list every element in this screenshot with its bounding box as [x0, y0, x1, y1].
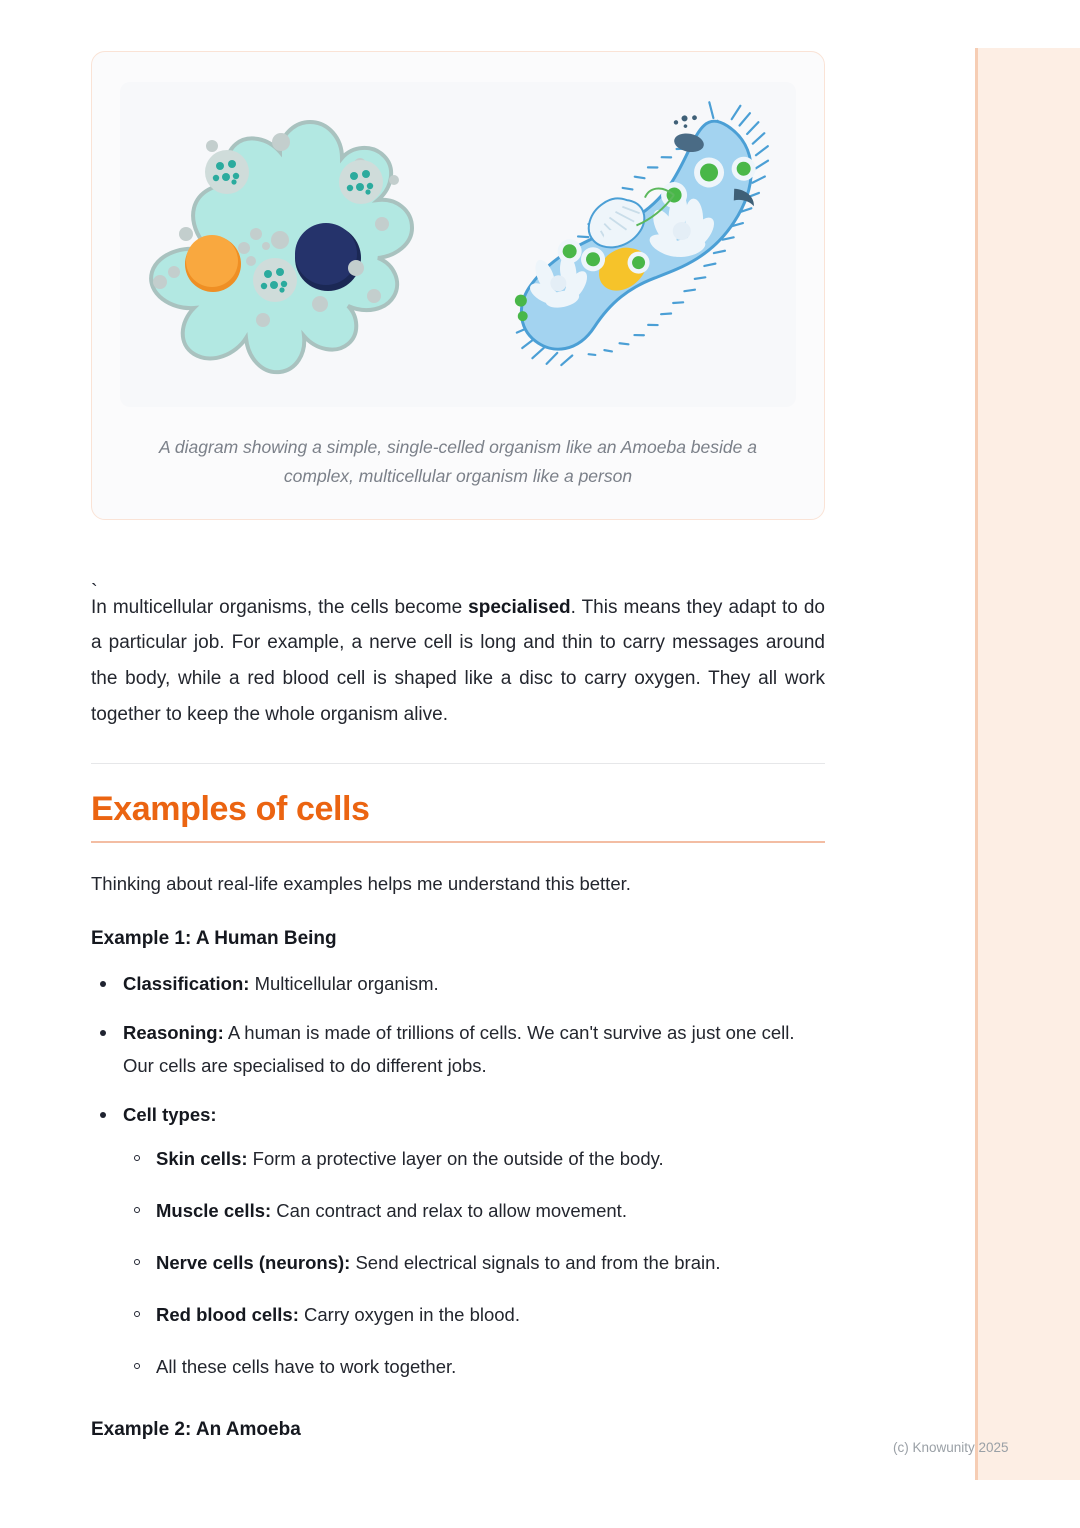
list-item: Classification: Multicellular organism. — [91, 968, 825, 1001]
document-content-column: A diagram showing a simple, single-celle… — [91, 0, 825, 1441]
paragraph-bold-term: specialised — [468, 597, 570, 618]
page-title: Examples of cells — [91, 790, 825, 841]
list-item-term: Classification: — [123, 973, 249, 994]
list-item-text: A human is made of trillions of cells. W… — [123, 1022, 795, 1076]
cells-illustration-svg — [120, 82, 796, 407]
amoeba-organelle-cluster-1 — [205, 150, 249, 194]
cell-types-sub-list: Skin cells: Form a protective layer on t… — [123, 1143, 825, 1384]
list-item-term: Reasoning: — [123, 1022, 224, 1043]
list-item-term: Nerve cells (neurons): — [156, 1252, 350, 1273]
list-item: Red blood cells: Carry oxygen in the blo… — [123, 1299, 825, 1332]
list-item-text: Multicellular organism. — [249, 973, 438, 994]
list-item: All these cells have to work together. — [123, 1351, 825, 1384]
figure-image-panel — [120, 82, 796, 407]
list-item: Cell types: Skin cells: Form a protectiv… — [91, 1099, 825, 1384]
amoeba-vacuole-highlight — [186, 235, 238, 287]
list-item-text: Carry oxygen in the blood. — [299, 1304, 520, 1325]
list-item: Skin cells: Form a protective layer on t… — [123, 1143, 825, 1176]
paramecium-illustration — [488, 82, 795, 407]
list-item-text: Send electrical signals to and from the … — [350, 1252, 720, 1273]
figure-caption: A diagram showing a simple, single-celle… — [154, 433, 762, 491]
section-lead-text: Thinking about real-life examples helps … — [91, 869, 825, 899]
list-item-text: Can contract and relax to allow movement… — [271, 1200, 627, 1221]
list-item-text: Form a protective layer on the outside o… — [248, 1148, 664, 1169]
right-band-edge-line — [975, 48, 978, 1480]
example-1-title: Example 1: A Human Being — [91, 928, 825, 950]
amoeba-organelle-cluster-2 — [339, 160, 383, 204]
right-decorative-band — [975, 48, 1080, 1480]
stray-backtick-mark: ` — [91, 582, 98, 602]
amoeba-illustration — [151, 122, 412, 372]
amoeba-organelle-cluster-3 — [253, 258, 297, 302]
amoeba-nucleus-highlight — [295, 223, 357, 285]
list-item-term: Red blood cells: — [156, 1304, 299, 1325]
list-item: Muscle cells: Can contract and relax to … — [123, 1195, 825, 1228]
list-item-term: Cell types: — [123, 1104, 217, 1125]
list-item: Reasoning: A human is made of trillions … — [91, 1017, 825, 1083]
list-item-text: All these cells have to work together. — [156, 1356, 456, 1377]
example-2-title: Example 2: An Amoeba — [91, 1419, 825, 1441]
list-item-term: Muscle cells: — [156, 1200, 271, 1221]
figure-card: A diagram showing a simple, single-celle… — [91, 51, 825, 520]
paragraph-text-before-bold: In multicellular organisms, the cells be… — [91, 597, 468, 618]
paramecium-body — [506, 83, 776, 396]
example-1-bullet-list: Classification: Multicellular organism. … — [91, 968, 825, 1383]
intro-paragraph: In multicellular organisms, the cells be… — [91, 590, 825, 733]
copyright-watermark: (c) Knowunity 2025 — [893, 1440, 1009, 1455]
list-item-term: Skin cells: — [156, 1148, 248, 1169]
list-item: Nerve cells (neurons): Send electrical s… — [123, 1247, 825, 1280]
